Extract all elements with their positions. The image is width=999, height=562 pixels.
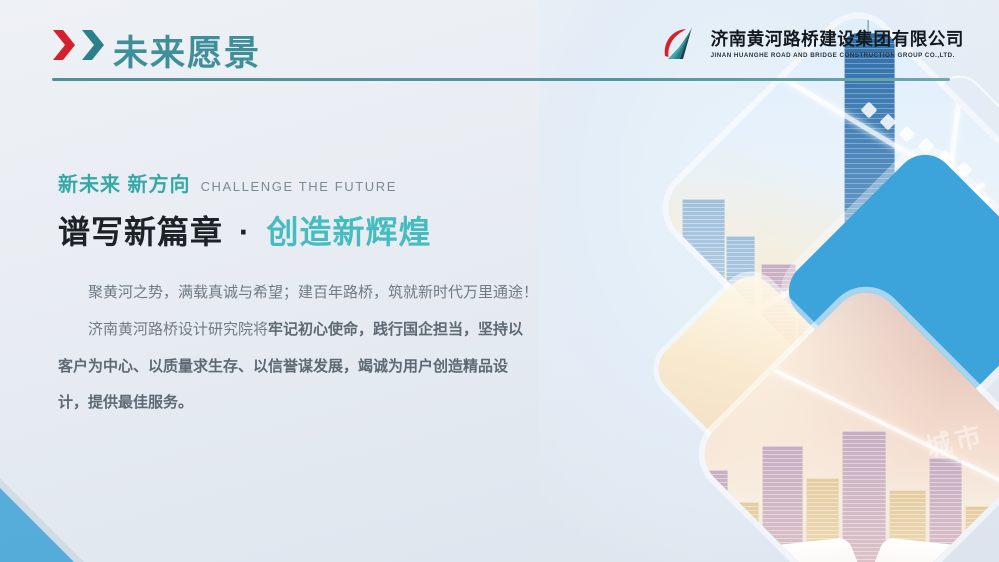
company-name-cn: 济南黄河路桥建设集团有限公司 (711, 29, 964, 49)
paragraph-3: 客户为中心、以质量求生存、以信誉谋发展，竭诚为用户创造精品设 (58, 349, 618, 386)
header-divider (52, 78, 950, 81)
headline-separator-dot: · (233, 214, 257, 250)
outline-diamond-decor (853, 65, 999, 277)
eyebrow-cn: 新未来 新方向 (58, 168, 191, 197)
corner-triangle-shadow (0, 478, 84, 562)
eyebrow-en: CHALLENGE THE FUTURE (201, 179, 397, 194)
headline-dark-part: 谱写新篇章 (58, 214, 223, 250)
eyebrow-row: 新未来 新方向 CHALLENGE THE FUTURE (58, 168, 618, 197)
paragraph-4: 计，提供最佳服务。 (58, 385, 618, 422)
warm-diamond-decor (648, 266, 854, 472)
jinan-huanghe-logo-mark (662, 26, 702, 62)
open-book-illustration (771, 541, 961, 562)
company-name-en: JINAN HUANGHE ROAD AND BRIDGE CONSTRUCTI… (711, 52, 964, 59)
slide-canvas: 城市 未来愿景 济南黄河路桥建设集团有限公司 (0, 0, 999, 562)
slide-header: 未来愿景 济南黄河路桥建设集团有限公司 JINAN HUANGHE ROAD A… (0, 0, 999, 92)
slide-content: 新未来 新方向 CHALLENGE THE FUTURE 谱写新篇章 · 创造新… (58, 168, 618, 422)
logo-text-block: 济南黄河路桥建设集团有限公司 JINAN HUANGHE ROAD AND BR… (711, 29, 964, 58)
corner-triangle-accent (0, 488, 74, 562)
chevron-group (52, 28, 107, 62)
company-logo: 济南黄河路桥建设集团有限公司 JINAN HUANGHE ROAD AND BR… (662, 26, 964, 62)
paragraph-2: 济南黄河路桥设计研究院将牢记初心使命，践行国企担当，坚持以 (58, 312, 618, 349)
paragraph-1: 聚黄河之势，满载真诚与希望；建百年路桥，筑就新时代万里通途！ (58, 275, 618, 312)
body-paragraphs: 聚黄河之势，满载真诚与希望；建百年路桥，筑就新时代万里通途！ 济南黄河路桥设计研… (58, 275, 618, 422)
watermark-text: 城市 (921, 414, 988, 464)
blue-diamond-shape (777, 143, 999, 440)
paragraph-2-bold: 牢记初心使命，践行国企担当，坚持以 (268, 321, 523, 338)
page-title: 未来愿景 (113, 25, 261, 76)
headline: 谱写新篇章 · 创造新辉煌 (58, 207, 618, 253)
chevron-right-icon-teal (81, 28, 107, 62)
paragraph-2-normal: 济南黄河路桥设计研究院将 (88, 321, 268, 338)
chevron-right-icon-red (52, 28, 78, 62)
headline-teal-part: 创造新辉煌 (266, 214, 431, 250)
open-book-city-photo (691, 279, 999, 562)
